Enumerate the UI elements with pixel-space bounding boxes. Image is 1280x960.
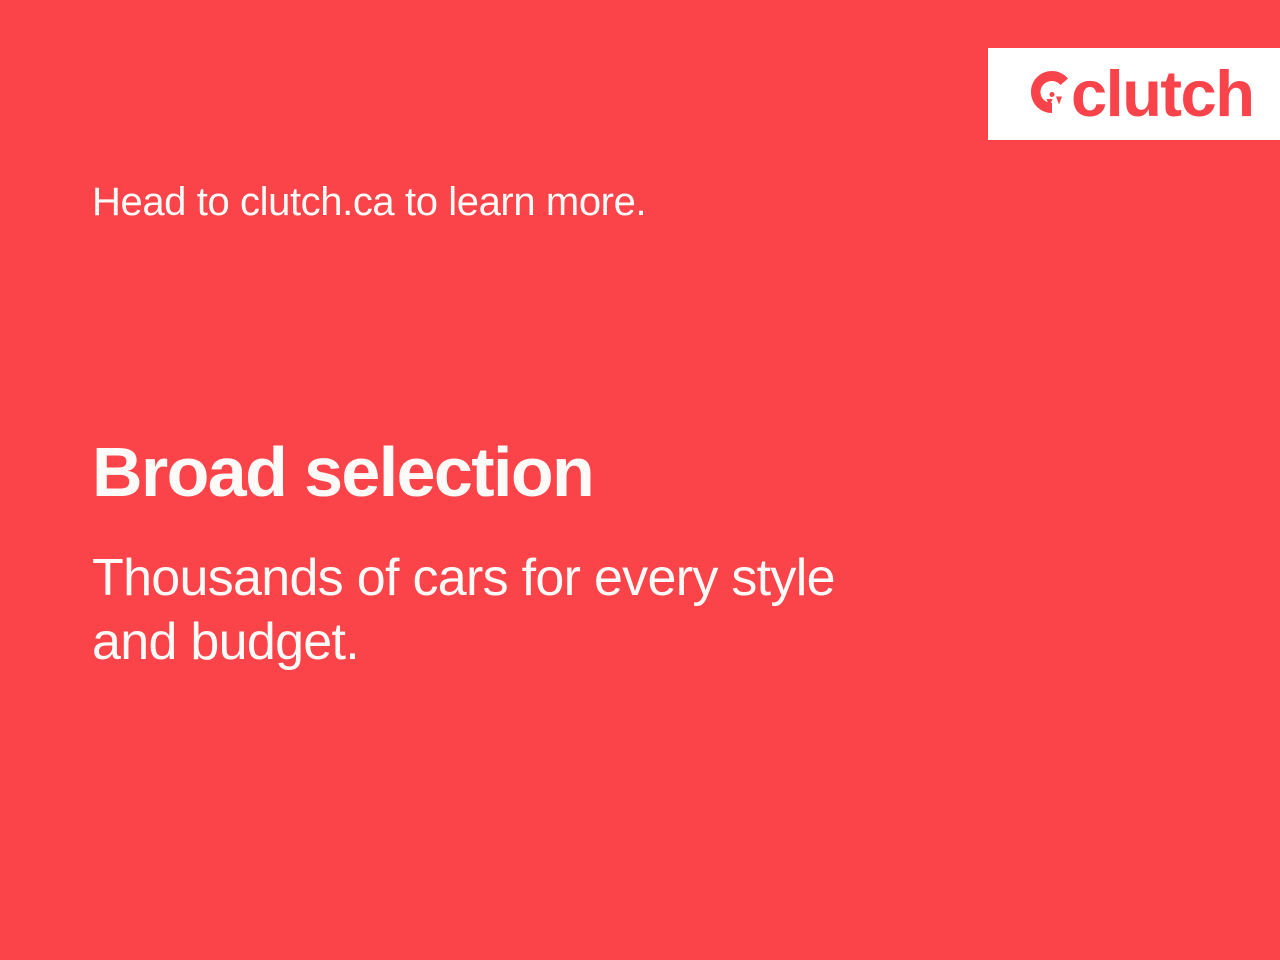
page-title: Broad selection — [92, 436, 593, 510]
slide-canvas: clutch Head to clutch.ca to learn more. … — [0, 0, 1280, 960]
subcopy-line-2: and budget. — [92, 610, 1052, 674]
kicker-text: Head to clutch.ca to learn more. — [92, 180, 646, 225]
subcopy-line-1: Thousands of cars for every style — [92, 546, 1052, 610]
subcopy-block: Thousands of cars for every style and bu… — [92, 546, 1052, 675]
clutch-logo-lockup[interactable]: clutch — [1030, 69, 1255, 120]
brand-logo-plate: clutch — [988, 48, 1280, 140]
clutch-wordmark: clutch — [1071, 69, 1253, 120]
clutch-c-mark-icon — [1030, 68, 1069, 118]
